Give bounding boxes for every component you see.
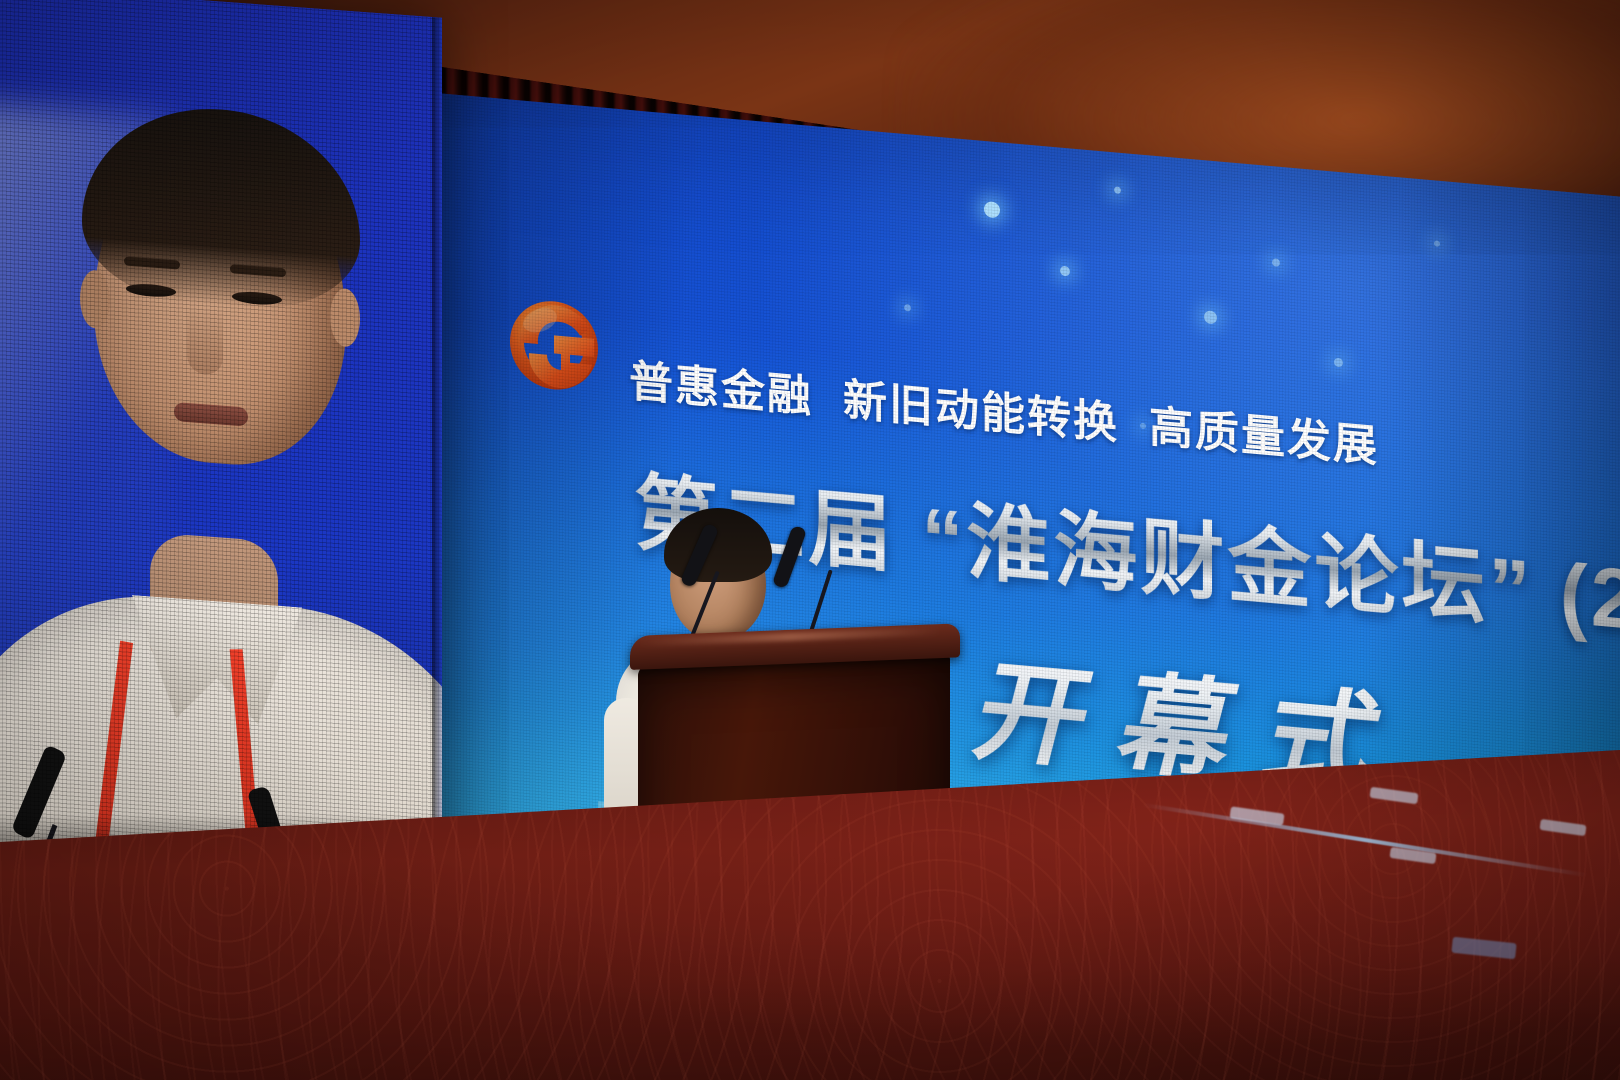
tagline-part-3: 高质量发展	[1149, 402, 1379, 471]
tagline-part-2: 新旧动能转换	[843, 376, 1119, 449]
bokeh-particle	[1272, 258, 1280, 267]
floor-tape-marker	[1451, 937, 1516, 960]
bokeh-particle	[1334, 358, 1343, 368]
floor-tape-marker	[1369, 787, 1418, 805]
bokeh-particle	[1114, 186, 1121, 194]
bokeh-particle	[984, 201, 1000, 218]
conference-stage-photo: 普惠金融新旧动能转换高质量发展 第二届 “淮海财金论坛” (2018) 开幕式 …	[0, 0, 1620, 1080]
bokeh-particle	[1204, 310, 1217, 324]
bokeh-particle	[904, 304, 911, 312]
bokeh-particle	[1434, 240, 1440, 247]
floor-tape-marker	[1539, 819, 1586, 836]
tagline-part-1: 普惠金融	[629, 357, 813, 422]
bokeh-particle	[1060, 266, 1070, 277]
feed-nose	[187, 305, 223, 376]
huaihai-finance-forum-logo	[504, 291, 604, 400]
floor-cable	[1142, 803, 1587, 877]
